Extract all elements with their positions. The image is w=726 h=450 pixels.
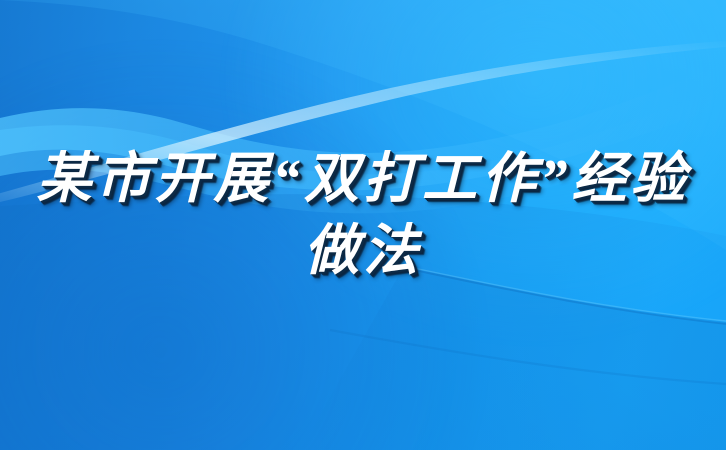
title-line-1: 某市开展“双打工作”经验 xyxy=(0,143,726,215)
title-slide: 某市开展“双打工作”经验 做法 xyxy=(0,0,726,450)
slide-title: 某市开展“双打工作”经验 做法 xyxy=(0,143,726,287)
title-line-2: 做法 xyxy=(0,215,726,287)
